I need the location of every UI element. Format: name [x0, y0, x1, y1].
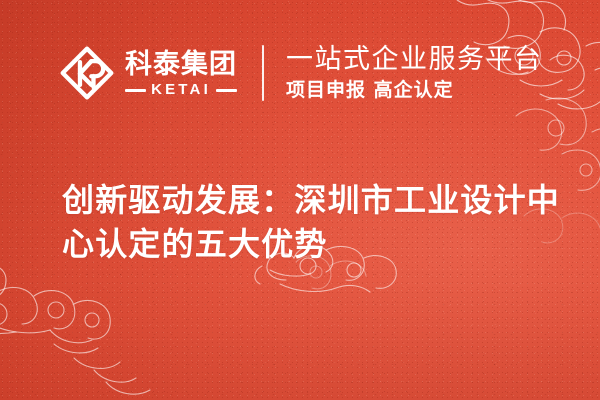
article-banner: 科泰集团 KETAI 一站式企业服务平台 项目申报 高企认定 创新驱动发展：深圳… — [0, 0, 600, 400]
cloud-decoration-bottom-left — [0, 258, 184, 400]
article-title-line-2: 心认定的五大优势 — [62, 225, 328, 263]
brand-name-en: KETAI — [151, 82, 211, 98]
article-title: 创新驱动发展：深圳市工业设计中心认定的五大优势 — [62, 178, 562, 266]
brand-rule-right — [216, 89, 237, 92]
slogan-sub: 项目申报 高企认定 — [286, 78, 543, 102]
brand-rule-left — [125, 89, 146, 92]
banner-header: 科泰集团 KETAI 一站式企业服务平台 项目申报 高企认定 — [0, 34, 600, 112]
brand-lockup[interactable]: 科泰集团 KETAI — [60, 46, 237, 100]
header-divider — [262, 45, 264, 101]
brand-name-en-row: KETAI — [125, 82, 237, 98]
article-title-line-1: 创新驱动发展：深圳市工业设计中 — [62, 181, 560, 219]
slogan-block: 一站式企业服务平台 项目申报 高企认定 — [286, 44, 543, 102]
brand-name-cn: 科泰集团 — [125, 50, 237, 80]
slogan-main: 一站式企业服务平台 — [286, 44, 543, 75]
brand-wordmark: 科泰集团 KETAI — [125, 48, 237, 98]
ketai-logo-icon — [60, 46, 114, 100]
